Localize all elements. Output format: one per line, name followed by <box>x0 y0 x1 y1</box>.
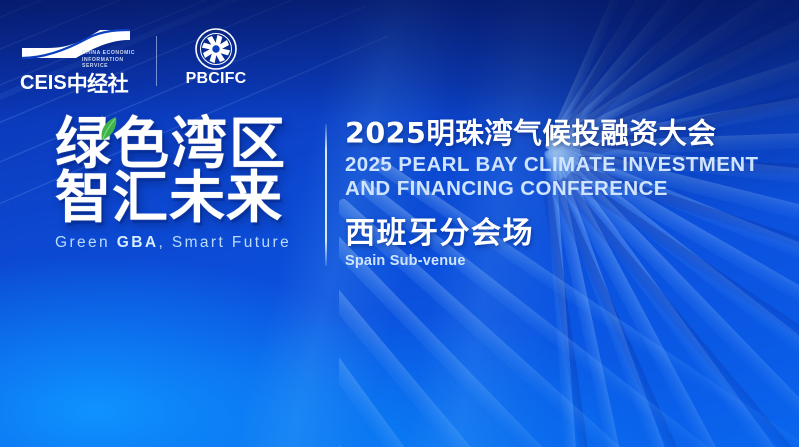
conference-block: 2025明珠湾气候投融资大会 2025 PEARL BAY CLIMATE IN… <box>327 118 758 269</box>
ceis-english-name: CHINA ECONOMIC INFORMATION SERVICE <box>82 50 146 70</box>
logo-row: CHINA ECONOMIC INFORMATION SERVICE CEIS中… <box>18 27 259 95</box>
ceis-wordmark: CEIS中经社 <box>20 68 128 98</box>
venue-name-chinese: 西班牙分会场 <box>345 217 758 251</box>
title-area: 绿色湾区 智汇未来 Green GBA, Smart Future 2025明珠… <box>0 118 799 269</box>
pbcifc-circular-emblem <box>195 28 237 75</box>
pbcifc-wordmark: PBCIFC <box>173 70 259 88</box>
slogan-chinese-line2: 智汇未来 <box>55 172 325 226</box>
slogan-block: 绿色湾区 智汇未来 Green GBA, Smart Future <box>0 118 325 252</box>
ceis-logo[interactable]: CHINA ECONOMIC INFORMATION SERVICE CEIS中… <box>18 28 146 94</box>
venue-name-english: Spain Sub-venue <box>345 253 758 269</box>
ceis-wordmark-cjk: 中经社 <box>67 68 129 98</box>
conference-banner: CHINA ECONOMIC INFORMATION SERVICE CEIS中… <box>0 0 799 447</box>
conference-name-english: 2025 PEARL BAY CLIMATE INVESTMENT AND FI… <box>345 153 758 200</box>
slogan-english-prefix: Green <box>55 234 117 251</box>
ceis-wordmark-latin: CEIS <box>20 72 67 95</box>
conference-name-chinese: 2025明珠湾气候投融资大会 <box>345 118 758 150</box>
slogan-chinese: 绿色湾区 智汇未来 <box>55 118 325 226</box>
slogan-english: Green GBA, Smart Future <box>55 234 325 252</box>
conference-name-english-line2: AND FINANCING CONFERENCE <box>345 177 758 201</box>
logo-separator <box>156 36 157 86</box>
pbcifc-logo[interactable]: PBCIFC <box>173 28 259 94</box>
slogan-chinese-line1: 绿色湾区 <box>55 118 325 172</box>
slogan-english-suffix: , Smart Future <box>158 234 291 251</box>
conference-name-english-line1: 2025 PEARL BAY CLIMATE INVESTMENT <box>345 153 758 177</box>
slogan-english-bold: GBA <box>117 234 159 251</box>
